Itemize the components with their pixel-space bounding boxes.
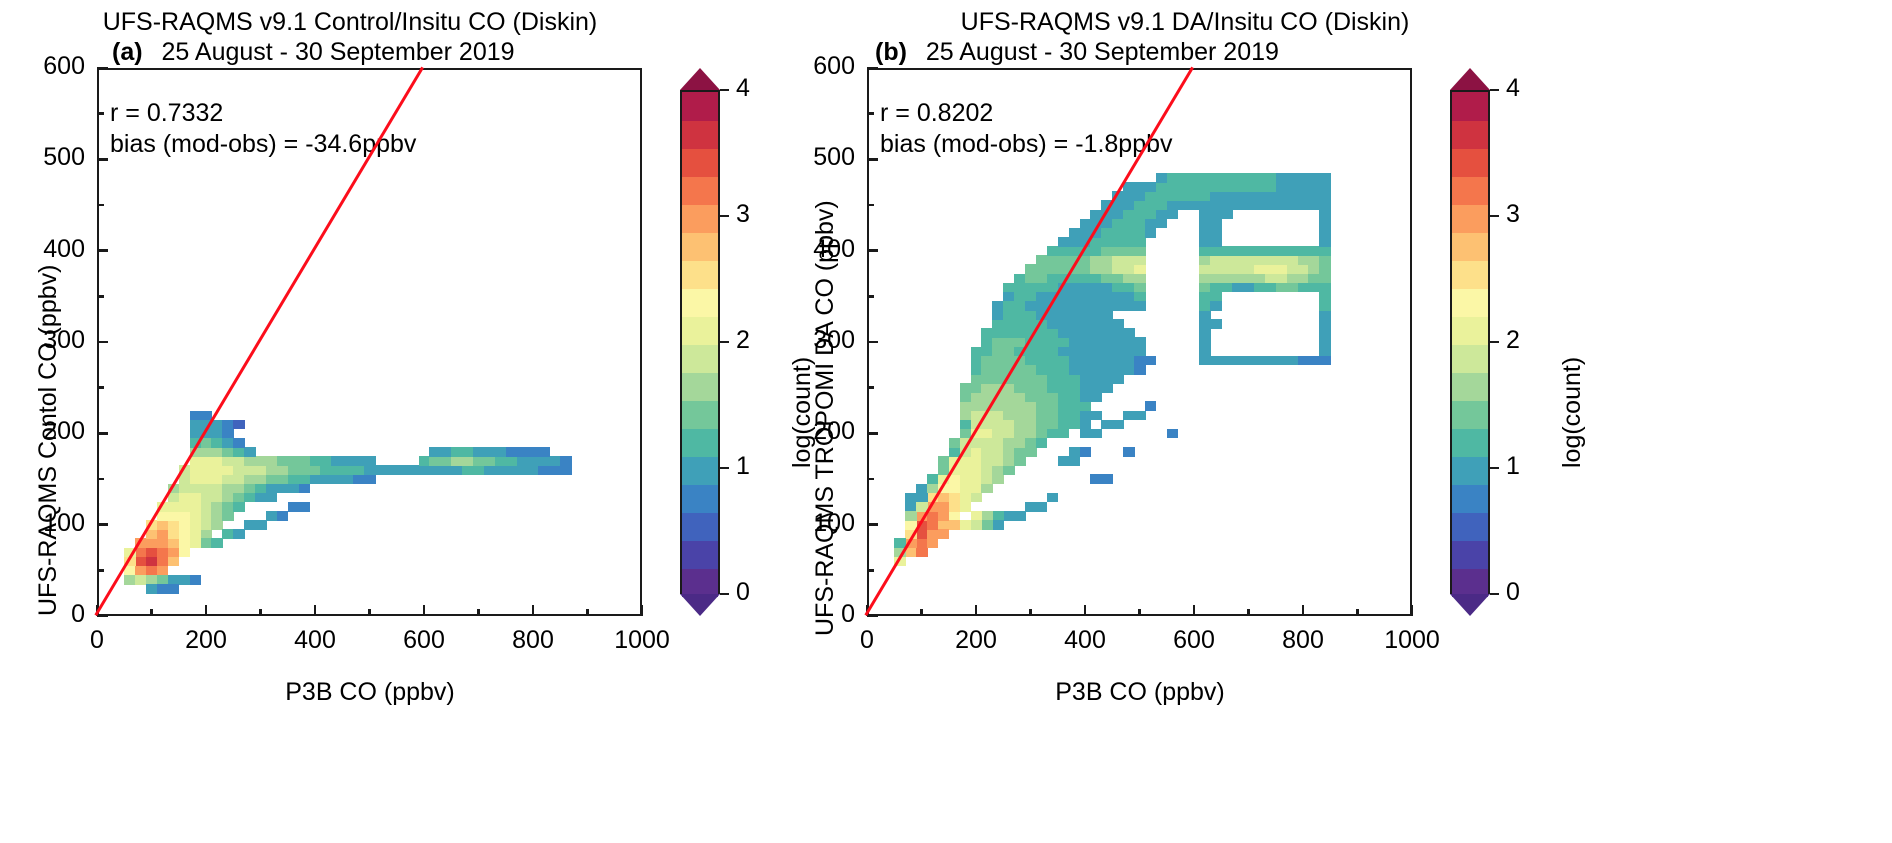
heatmap-cell [971, 474, 983, 484]
y-tick-label: 600 [0, 52, 85, 81]
y-tick-label: 500 [0, 143, 85, 172]
heatmap-cell [1101, 328, 1113, 338]
heatmap-cell [1134, 283, 1146, 293]
heatmap-cell [1047, 246, 1059, 256]
heatmap-cell [1134, 264, 1146, 274]
colorbar-segment [1452, 204, 1488, 233]
heatmap-cell [981, 337, 993, 347]
panel-a: UFS-RAQMS v9.1 Control/Insitu CO (Diskin… [0, 0, 835, 843]
heatmap-cell [1036, 356, 1048, 366]
heatmap-cell [201, 484, 213, 494]
heatmap-cell [1112, 374, 1124, 384]
heatmap-cell [190, 484, 202, 494]
heatmap-cell [1123, 292, 1135, 302]
heatmap-cell [1080, 347, 1092, 357]
heatmap-cell [1112, 337, 1124, 347]
colorbar-segment [682, 316, 718, 345]
heatmap-cell [244, 484, 256, 494]
heatmap-cell [1047, 374, 1059, 384]
y-tick-label: 600 [755, 52, 855, 81]
heatmap-cell [1243, 264, 1255, 274]
heatmap-cell [364, 456, 376, 466]
y-tick-minor [867, 386, 874, 389]
heatmap-cell [1025, 310, 1037, 320]
heatmap-cell [1101, 474, 1113, 484]
heatmap-cell [1199, 310, 1211, 320]
heatmap-cell [1199, 237, 1211, 247]
heatmap-cell [1003, 447, 1015, 457]
y-tick-minor [867, 112, 874, 115]
heatmap-cell [168, 538, 180, 548]
heatmap-cell [1090, 347, 1102, 357]
heatmap-cell [1080, 356, 1092, 366]
y-tick-mark [867, 158, 878, 161]
heatmap-cell [1167, 210, 1179, 220]
heatmap-cell [353, 474, 365, 484]
heatmap-cell [1101, 237, 1113, 247]
y-tick-mark [867, 523, 878, 526]
colorbar-segment [682, 148, 718, 177]
y-tick-minor [867, 204, 874, 207]
heatmap-cell [1221, 255, 1233, 265]
heatmap-cell [331, 456, 343, 466]
heatmap-cell [211, 493, 223, 503]
heatmap-cell [1254, 200, 1266, 210]
heatmap-cell [971, 365, 983, 375]
heatmap-cell [1232, 274, 1244, 284]
heatmap-cell [1047, 493, 1059, 503]
heatmap-cell [1058, 237, 1070, 247]
heatmap-cell [1080, 365, 1092, 375]
heatmap-cell [549, 456, 561, 466]
heatmap-cell [971, 374, 983, 384]
heatmap-cell [1123, 337, 1135, 347]
panel-a-subtitle-group: (a) 25 August - 30 September 2019 [112, 38, 515, 67]
heatmap-cell [168, 502, 180, 512]
heatmap-cell [1232, 182, 1244, 192]
heatmap-cell [451, 456, 463, 466]
colorbar-segment [1452, 148, 1488, 177]
y-tick-mark [867, 249, 878, 252]
heatmap-cell [1276, 246, 1288, 256]
heatmap-cell [1265, 264, 1277, 274]
heatmap-cell [1080, 383, 1092, 393]
heatmap-cell [331, 465, 343, 475]
heatmap-cell [960, 484, 972, 494]
heatmap-cell [179, 502, 191, 512]
panel-b-subtitle: 25 August - 30 September 2019 [926, 38, 1279, 66]
heatmap-cell [1014, 429, 1026, 439]
heatmap-cell [1036, 292, 1048, 302]
heatmap-cell [1036, 411, 1048, 421]
heatmap-cell [992, 465, 1004, 475]
heatmap-cell [201, 538, 213, 548]
heatmap-cell [971, 520, 983, 530]
heatmap-cell [1254, 274, 1266, 284]
heatmap-cell [135, 575, 147, 585]
heatmap-cell [201, 447, 213, 457]
heatmap-cell [992, 456, 1004, 466]
x-tick-label: 0 [807, 626, 927, 655]
heatmap-cell [1003, 401, 1015, 411]
heatmap-cell [538, 465, 550, 475]
heatmap-cell [1199, 228, 1211, 238]
y-tick-mark [97, 158, 108, 161]
heatmap-cell [1145, 210, 1157, 220]
heatmap-cell [1069, 456, 1081, 466]
heatmap-cell [1221, 274, 1233, 284]
heatmap-cell [473, 447, 485, 457]
heatmap-cell [1319, 237, 1331, 247]
x-tick-mark [1411, 605, 1414, 616]
colorbar-tick-label: 1 [1506, 452, 1520, 481]
heatmap-cell [1243, 356, 1255, 366]
x-tick-label: 800 [1243, 626, 1363, 655]
heatmap-cell [1319, 210, 1331, 220]
heatmap-cell [1276, 200, 1288, 210]
heatmap-cell [506, 465, 518, 475]
panel-a-title: UFS-RAQMS v9.1 Control/Insitu CO (Diskin… [0, 8, 700, 37]
heatmap-cell [1199, 182, 1211, 192]
colorbar-tick-mark [720, 341, 729, 344]
heatmap-cell [1058, 328, 1070, 338]
heatmap-cell [1014, 511, 1026, 521]
heatmap-cell [1156, 210, 1168, 220]
heatmap-cell [168, 584, 180, 594]
heatmap-cell [288, 502, 300, 512]
heatmap-cell [1210, 319, 1222, 329]
x-tick-label: 1000 [1352, 626, 1472, 655]
heatmap-cell [992, 429, 1004, 439]
y-tick-minor [97, 295, 104, 298]
heatmap-cell [949, 493, 961, 503]
heatmap-cell [222, 529, 234, 539]
heatmap-cell [1014, 310, 1026, 320]
x-tick-minor [920, 609, 923, 616]
heatmap-cell [1069, 283, 1081, 293]
heatmap-cell [1134, 210, 1146, 220]
heatmap-cell [1319, 292, 1331, 302]
heatmap-cell [266, 465, 278, 475]
heatmap-cell [1232, 200, 1244, 210]
heatmap-cell [1014, 456, 1026, 466]
heatmap-cell [1210, 191, 1222, 201]
heatmap-cell [1058, 383, 1070, 393]
heatmap-cell [1210, 219, 1222, 229]
heatmap-cell [1145, 401, 1157, 411]
heatmap-cell [157, 538, 169, 548]
heatmap-cell [1232, 264, 1244, 274]
heatmap-cell [211, 511, 223, 521]
heatmap-cell [1036, 274, 1048, 284]
heatmap-cell [190, 520, 202, 530]
heatmap-cell [1265, 200, 1277, 210]
heatmap-cell [1319, 191, 1331, 201]
heatmap-cell [992, 520, 1004, 530]
heatmap-cell [538, 447, 550, 457]
heatmap-cell [157, 529, 169, 539]
heatmap-cell [1025, 438, 1037, 448]
x-tick-mark [1302, 605, 1305, 616]
x-tick-label: 600 [1134, 626, 1254, 655]
colorbar-segment [1452, 232, 1488, 261]
y-tick-label: 400 [0, 235, 85, 264]
heatmap-cell [992, 319, 1004, 329]
heatmap-cell [960, 383, 972, 393]
heatmap-cell [1243, 283, 1255, 293]
heatmap-cell [1134, 237, 1146, 247]
colorbar-segment [682, 344, 718, 373]
y-tick-minor [867, 295, 874, 298]
heatmap-cell [1090, 429, 1102, 439]
heatmap-cell [1112, 292, 1124, 302]
heatmap-cell [1025, 283, 1037, 293]
heatmap-cell [1232, 191, 1244, 201]
heatmap-cell [310, 465, 322, 475]
heatmap-cell [1319, 347, 1331, 357]
heatmap-cell [266, 474, 278, 484]
x-tick-mark [205, 605, 208, 616]
heatmap-cell [222, 447, 234, 457]
heatmap-cell [179, 493, 191, 503]
heatmap-cell [1058, 420, 1070, 430]
heatmap-cell [310, 456, 322, 466]
heatmap-cell [1025, 383, 1037, 393]
colorbar-segment [1452, 344, 1488, 373]
heatmap-cell [1014, 328, 1026, 338]
heatmap-cell [1308, 173, 1320, 183]
heatmap-cell [1134, 255, 1146, 265]
heatmap-cell [1080, 301, 1092, 311]
heatmap-cell [1069, 356, 1081, 366]
panel-b-x-axis-title: P3B CO (ppbv) [835, 678, 1445, 707]
heatmap-cell [1069, 383, 1081, 393]
x-tick-label: 0 [37, 626, 157, 655]
y-tick-minor [97, 112, 104, 115]
heatmap-cell [211, 429, 223, 439]
heatmap-cell [190, 511, 202, 521]
heatmap-cell [1025, 392, 1037, 402]
heatmap-cell [1308, 255, 1320, 265]
heatmap-cell [397, 465, 409, 475]
heatmap-cell [222, 465, 234, 475]
heatmap-cell [1134, 219, 1146, 229]
heatmap-cell [1025, 292, 1037, 302]
heatmap-cell [1189, 200, 1201, 210]
heatmap-cell [1058, 429, 1070, 439]
heatmap-cell [1112, 274, 1124, 284]
heatmap-cell [949, 502, 961, 512]
heatmap-cell [1298, 264, 1310, 274]
heatmap-cell [1080, 283, 1092, 293]
heatmap-cell [1112, 246, 1124, 256]
heatmap-cell [320, 474, 332, 484]
heatmap-cell [1287, 356, 1299, 366]
heatmap-cell [211, 447, 223, 457]
panel-b-title: UFS-RAQMS v9.1 DA/Insitu CO (Diskin) [835, 8, 1535, 37]
heatmap-cell [233, 493, 245, 503]
heatmap-cell [1308, 274, 1320, 284]
heatmap-cell [342, 465, 354, 475]
heatmap-cell [1199, 246, 1211, 256]
heatmap-cell [960, 474, 972, 484]
colorbar-tick-mark [720, 89, 729, 92]
heatmap-cell [1112, 264, 1124, 274]
heatmap-cell [981, 456, 993, 466]
heatmap-cell [971, 383, 983, 393]
heatmap-cell [1101, 356, 1113, 366]
x-tick-mark [532, 605, 535, 616]
y-tick-label: 200 [755, 417, 855, 446]
heatmap-cell [1210, 173, 1222, 183]
heatmap-cell [1210, 301, 1222, 311]
heatmap-cell [201, 520, 213, 530]
colorbar-tick-label: 0 [1506, 578, 1520, 607]
heatmap-cell [1308, 246, 1320, 256]
heatmap-cell [201, 474, 213, 484]
heatmap-cell [1319, 173, 1331, 183]
heatmap-cell [1221, 283, 1233, 293]
heatmap-cell [1090, 319, 1102, 329]
heatmap-cell [244, 447, 256, 457]
heatmap-cell [124, 575, 136, 585]
heatmap-cell [1080, 219, 1092, 229]
heatmap-cell [1047, 429, 1059, 439]
heatmap-cell [1014, 319, 1026, 329]
colorbar-tick-mark [1490, 467, 1499, 470]
heatmap-cell [1221, 264, 1233, 274]
heatmap-cell [1047, 356, 1059, 366]
heatmap-cell [992, 447, 1004, 457]
colorbar-b-gradient [1450, 90, 1490, 594]
x-tick-minor [1247, 609, 1250, 616]
heatmap-cell [1090, 337, 1102, 347]
heatmap-cell [1112, 228, 1124, 238]
heatmap-cell [1058, 365, 1070, 375]
heatmap-cell [1276, 255, 1288, 265]
x-tick-minor [1356, 609, 1359, 616]
heatmap-cell [1287, 191, 1299, 201]
colorbar-tick-label: 4 [736, 74, 750, 103]
heatmap-cell [1025, 365, 1037, 375]
heatmap-cell [440, 465, 452, 475]
heatmap-cell [1069, 301, 1081, 311]
heatmap-cell [364, 474, 376, 484]
heatmap-cell [1199, 337, 1211, 347]
heatmap-cell [981, 365, 993, 375]
heatmap-cell [1199, 356, 1211, 366]
heatmap-cell [1047, 383, 1059, 393]
heatmap-cell [1047, 319, 1059, 329]
heatmap-cell [1101, 228, 1113, 238]
x-tick-label: 1000 [582, 626, 702, 655]
heatmap-cell [244, 520, 256, 530]
heatmap-cell [1080, 310, 1092, 320]
heatmap-cell [1254, 173, 1266, 183]
colorbar-segment [682, 540, 718, 569]
colorbar-segment [1452, 120, 1488, 149]
heatmap-cell [1014, 292, 1026, 302]
heatmap-cell [1199, 301, 1211, 311]
heatmap-cell [1101, 420, 1113, 430]
heatmap-cell [1090, 474, 1102, 484]
heatmap-cell [342, 456, 354, 466]
heatmap-cell [1123, 246, 1135, 256]
colorbar-segment [682, 288, 718, 317]
heatmap-cell [1123, 210, 1135, 220]
heatmap-cell [949, 438, 961, 448]
colorbar-tick-label: 0 [736, 578, 750, 607]
colorbar-segment [1452, 568, 1488, 597]
heatmap-cell [1014, 420, 1026, 430]
heatmap-cell [1265, 255, 1277, 265]
heatmap-cell [440, 456, 452, 466]
colorbar-segment [1452, 316, 1488, 345]
heatmap-cell [1123, 228, 1135, 238]
colorbar-b-title: log(count) [1558, 357, 1587, 468]
heatmap-cell [233, 502, 245, 512]
colorbar-tick-label: 2 [736, 326, 750, 355]
heatmap-cell [1189, 173, 1201, 183]
heatmap-cell [179, 575, 191, 585]
heatmap-cell [1199, 292, 1211, 302]
heatmap-cell [1014, 411, 1026, 421]
panel-b-colorbar: 01234 log(count) [1450, 68, 1610, 616]
heatmap-cell [949, 520, 961, 530]
heatmap-cell [1069, 310, 1081, 320]
heatmap-cell [1003, 411, 1015, 421]
heatmap-cell [190, 493, 202, 503]
heatmap-cell [981, 465, 993, 475]
colorbar-segment [682, 400, 718, 429]
heatmap-cell [299, 484, 311, 494]
heatmap-cell [419, 465, 431, 475]
heatmap-cell [1069, 374, 1081, 384]
colorbar-tick-label: 4 [1506, 74, 1520, 103]
heatmap-cell [1047, 411, 1059, 421]
heatmap-cell [201, 456, 213, 466]
heatmap-cell [1101, 374, 1113, 384]
heatmap-cell [1319, 301, 1331, 311]
heatmap-cell [451, 447, 463, 457]
colorbar-a-top-arrow [680, 68, 720, 90]
colorbar-tick-label: 3 [1506, 200, 1520, 229]
y-tick-minor [867, 569, 874, 572]
heatmap-cell [190, 502, 202, 512]
heatmap-cell [1178, 173, 1190, 183]
heatmap-cell [1265, 274, 1277, 284]
heatmap-cell [1287, 274, 1299, 284]
heatmap-cell [1265, 246, 1277, 256]
heatmap-cell [1090, 283, 1102, 293]
heatmap-cell [244, 474, 256, 484]
heatmap-cell [277, 465, 289, 475]
heatmap-cell [495, 465, 507, 475]
heatmap-cell [538, 456, 550, 466]
heatmap-cell [1025, 301, 1037, 311]
heatmap-cell [1221, 173, 1233, 183]
y-tick-mark [97, 523, 108, 526]
heatmap-cell [1199, 255, 1211, 265]
heatmap-cell [1308, 200, 1320, 210]
heatmap-cell [1025, 264, 1037, 274]
heatmap-cell [320, 465, 332, 475]
heatmap-cell [1298, 182, 1310, 192]
colorbar-segment [1452, 428, 1488, 457]
heatmap-cell [1058, 301, 1070, 311]
heatmap-cell [1134, 356, 1146, 366]
heatmap-cell [1014, 374, 1026, 384]
